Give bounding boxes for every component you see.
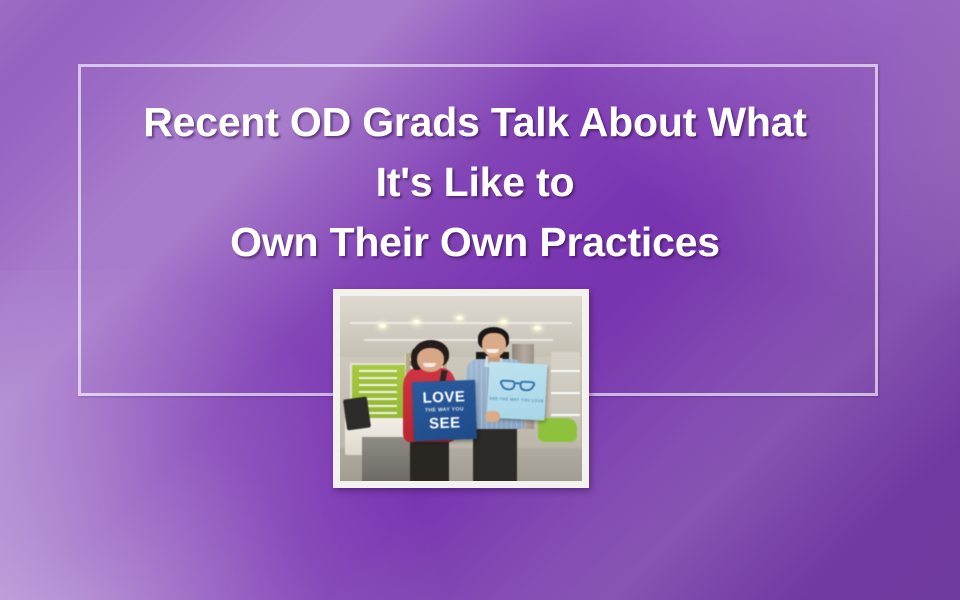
man-trousers <box>473 424 517 481</box>
man-face <box>482 333 506 357</box>
love-sign-line-1: LOVE <box>422 390 465 406</box>
ceiling-light <box>413 320 420 324</box>
green-chair <box>538 418 577 442</box>
ceiling-rail <box>364 339 553 341</box>
man-hand <box>485 411 500 422</box>
title-line-1: Recent OD Grads Talk About What <box>78 92 872 152</box>
shelf-line <box>551 414 580 416</box>
store-ceiling <box>340 296 582 357</box>
shelf-line <box>551 392 580 394</box>
photo-frame: SEE THE WAY YOU LOVE LOVE THE WAY YOU SE… <box>333 289 589 488</box>
woman-smile <box>423 363 435 367</box>
love-sign-line-3: SEE <box>428 415 460 431</box>
store-photo: SEE THE WAY YOU LOVE LOVE THE WAY YOU SE… <box>340 296 582 481</box>
tablet-device <box>343 396 371 430</box>
title-line-2: It's Like to <box>78 152 872 212</box>
counter-cabinet <box>362 437 413 481</box>
title-line-3: Own Their Own Practices <box>78 212 872 272</box>
ceiling-light <box>534 326 541 330</box>
love-sign-line-2: THE WAY YOU <box>425 407 464 415</box>
ceiling-light <box>500 320 507 324</box>
presentation-slide: Recent OD Grads Talk About What It's Lik… <box>0 0 960 600</box>
eyeglasses-icon <box>497 378 536 394</box>
glasses-sign-caption: SEE THE WAY YOU LOVE <box>489 395 544 403</box>
shelf-line <box>551 370 580 372</box>
slide-title: Recent OD Grads Talk About What It's Lik… <box>78 92 872 272</box>
ceiling-light <box>379 324 386 328</box>
woman-trousers <box>410 437 449 481</box>
woman-face <box>417 348 444 372</box>
man-smile <box>486 349 498 353</box>
love-the-way-you-see-sign: LOVE THE WAY YOU SEE <box>412 380 477 441</box>
